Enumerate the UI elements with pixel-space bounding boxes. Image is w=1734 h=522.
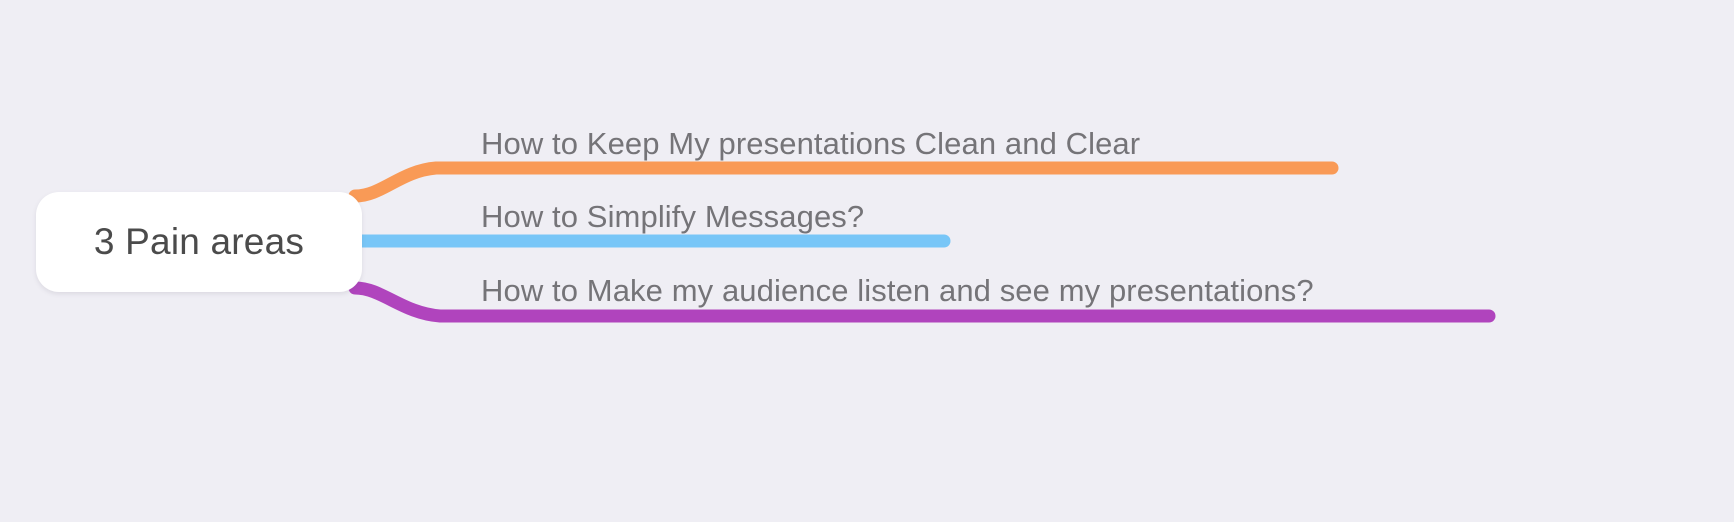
branch-label-keep-presentations-clean[interactable]: How to Keep My presentations Clean and C… (481, 128, 1140, 159)
branch-label-make-audience-listen[interactable]: How to Make my audience listen and see m… (481, 275, 1314, 306)
root-node[interactable]: 3 Pain areas (36, 192, 362, 292)
branch-label-simplify-messages[interactable]: How to Simplify Messages? (481, 201, 864, 232)
branch-line-orange[interactable] (355, 168, 1332, 196)
mindmap-canvas: 3 Pain areas How to Keep My presentation… (0, 0, 1734, 522)
root-node-label: 3 Pain areas (94, 221, 304, 263)
